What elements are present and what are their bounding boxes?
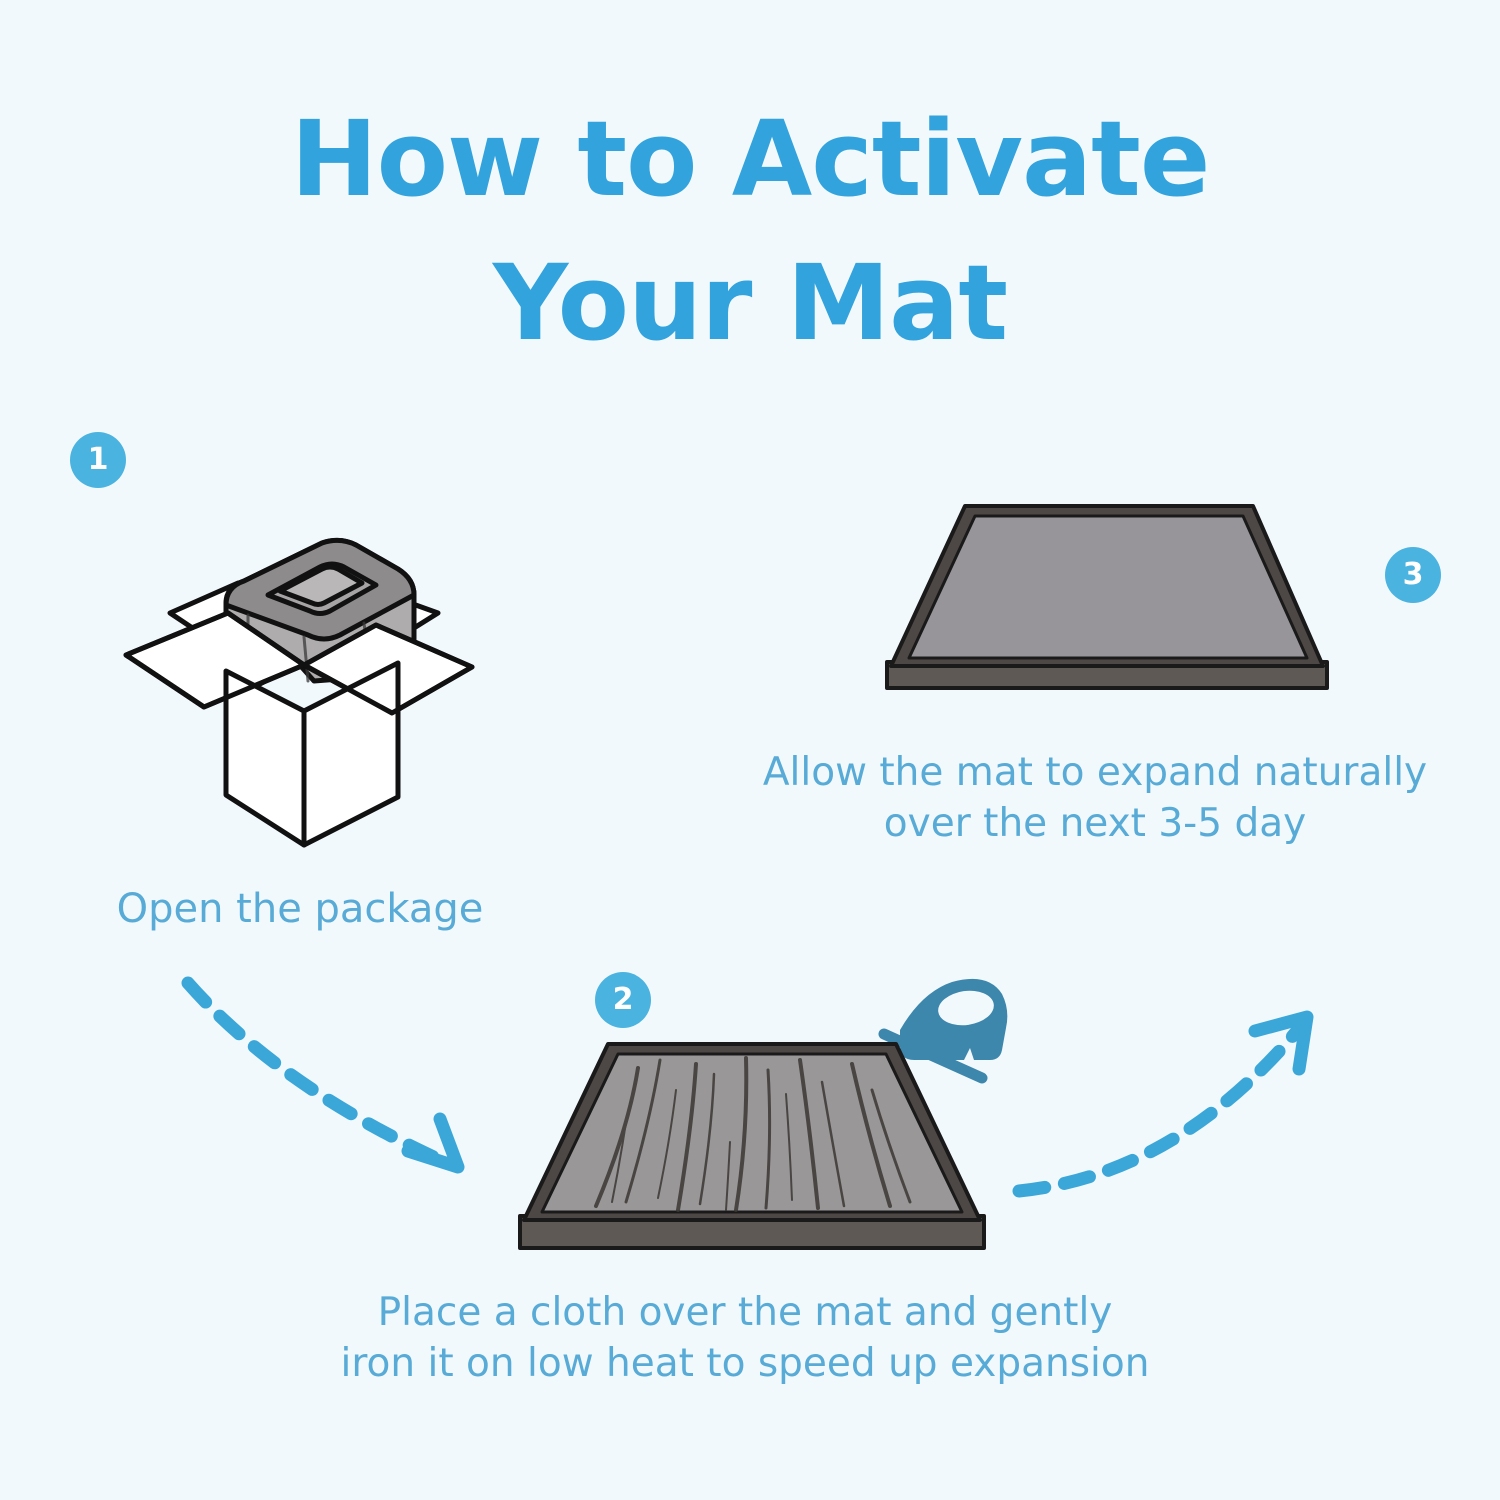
infographic-canvas: How to Activate Your Mat 1 xyxy=(0,0,1500,1500)
step-2-caption-line-1: Place a cloth over the mat and gently xyxy=(260,1288,1230,1339)
step-1-number-badge: 1 xyxy=(70,432,126,488)
open-box-illustration xyxy=(108,495,488,865)
page-title-line-1: How to Activate xyxy=(0,88,1500,232)
step-3-caption: Allow the mat to expand naturally over t… xyxy=(700,748,1490,849)
page-title-line-2: Your Mat xyxy=(0,232,1500,376)
step-2-number-badge: 2 xyxy=(595,972,651,1028)
page-title: How to Activate Your Mat xyxy=(0,88,1500,375)
step-3-caption-line-1: Allow the mat to expand naturally xyxy=(700,748,1490,799)
step-1-caption-line-1: Open the package xyxy=(60,880,540,938)
step-3-number-badge: 3 xyxy=(1385,547,1441,603)
step-1-caption: Open the package xyxy=(60,880,540,938)
step-3-caption-line-2: over the next 3-5 day xyxy=(700,799,1490,850)
wrinkled-mat-illustration xyxy=(500,1030,1000,1270)
step-2-caption: Place a cloth over the mat and gently ir… xyxy=(260,1288,1230,1389)
flat-mat-illustration xyxy=(865,490,1345,700)
arrow-step1-to-step2 xyxy=(170,965,510,1215)
arrow-step2-to-step3 xyxy=(1005,995,1350,1235)
step-2-caption-line-2: iron it on low heat to speed up expansio… xyxy=(260,1339,1230,1390)
